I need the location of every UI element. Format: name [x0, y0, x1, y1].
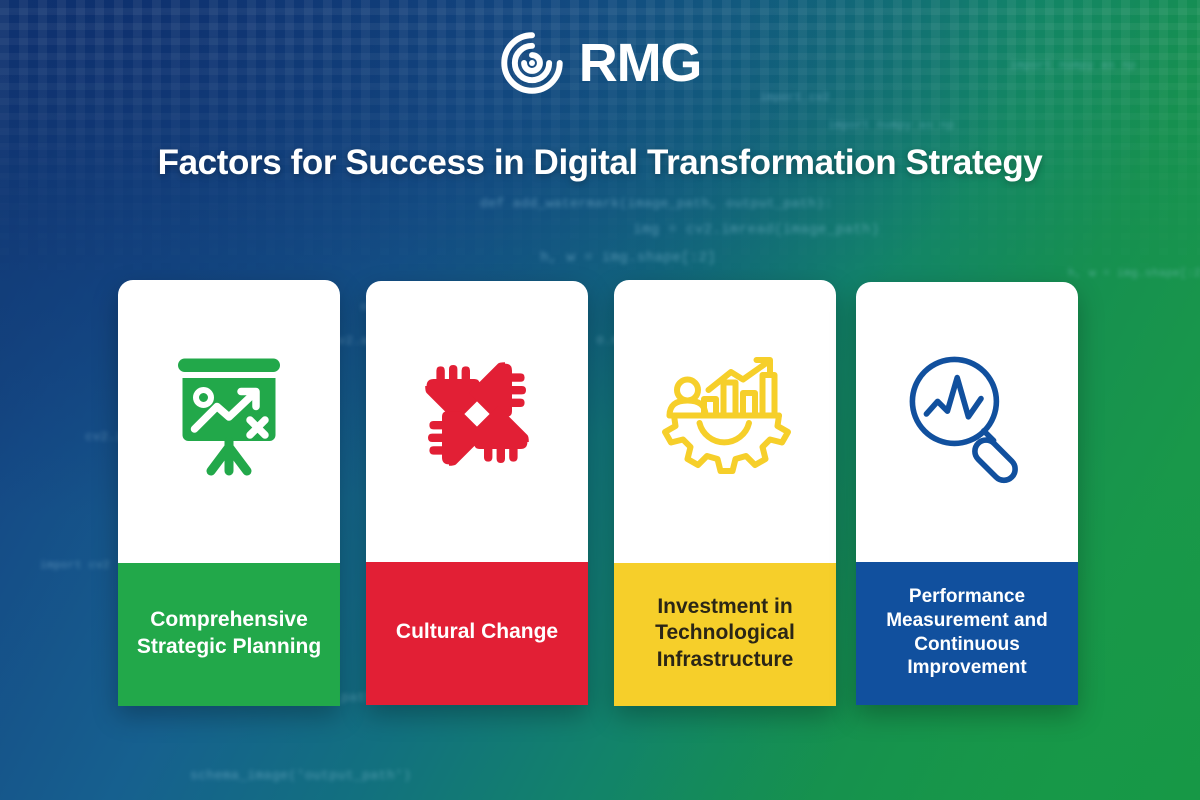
factor-card-list: Comprehensive Strategic Planning	[118, 280, 1078, 706]
brand-name: RMG	[579, 36, 701, 90]
code-line: img = cv2.imread(image_path)	[598, 222, 880, 238]
card-label: Investment in Technological Infrastructu…	[622, 594, 828, 673]
four-hands-teamwork-icon	[407, 344, 547, 484]
card-label-band: Comprehensive Strategic Planning	[118, 563, 340, 706]
code-line: schema_image('output_path')	[190, 768, 411, 783]
gear-growth-chart-icon	[650, 339, 800, 489]
page-title: Factors for Success in Digital Transform…	[0, 143, 1200, 183]
card-label: Performance Measurement and Continuous I…	[864, 585, 1070, 680]
card-icon-area	[856, 282, 1078, 562]
factor-card-investment-in-technological-infrastructure[interactable]: Investment in Technological Infrastructu…	[614, 280, 836, 706]
factor-card-cultural-change[interactable]: Cultural Change	[366, 281, 588, 705]
card-icon-area	[118, 280, 340, 563]
strategy-board-icon	[154, 339, 304, 489]
code-line: def add_watermark(image_path, output_pat…	[480, 196, 833, 211]
card-icon-area	[366, 281, 588, 562]
card-label: Cultural Change	[396, 619, 558, 645]
infographic-canvas: def add_watermark(image_path, output_pat…	[0, 0, 1200, 800]
card-label-band: Investment in Technological Infrastructu…	[614, 563, 836, 706]
card-label-band: Performance Measurement and Continuous I…	[856, 562, 1078, 705]
factor-card-comprehensive-strategic-planning[interactable]: Comprehensive Strategic Planning	[118, 280, 340, 706]
code-line: h, w = img.shape[:2]	[505, 250, 716, 266]
brand-logo: RMG	[0, 30, 1200, 96]
card-label-band: Cultural Change	[366, 562, 588, 705]
factor-card-performance-measurement-and-continuous-improvement[interactable]: Performance Measurement and Continuous I…	[856, 282, 1078, 705]
code-line: h, w = img.shape[:2]	[1040, 268, 1200, 280]
code-line: import cv2	[40, 560, 110, 572]
card-label: Comprehensive Strategic Planning	[126, 607, 332, 660]
magnifier-analytics-icon	[897, 344, 1037, 484]
card-icon-area	[614, 280, 836, 563]
rmg-spiral-logo-icon	[499, 30, 565, 96]
code-line: import numpy as np	[828, 120, 954, 132]
